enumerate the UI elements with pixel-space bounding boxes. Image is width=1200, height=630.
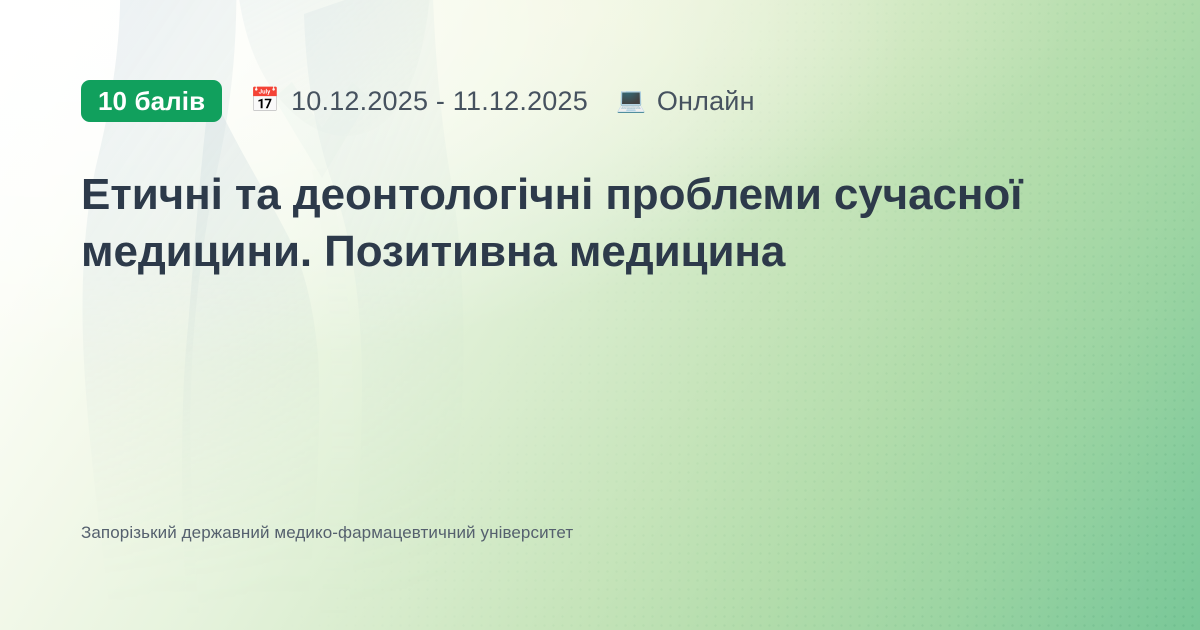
card-content: 10 балів 📅 10.12.2025 - 11.12.2025 💻 Онл… xyxy=(0,0,1200,630)
event-title: Етичні та деонтологічні проблеми сучасно… xyxy=(81,122,1041,280)
date-range-label: 10.12.2025 - 11.12.2025 xyxy=(291,88,588,115)
meta-row: 10 балів 📅 10.12.2025 - 11.12.2025 💻 Онл… xyxy=(81,80,1120,122)
layout-spacer xyxy=(81,280,1120,522)
format: 💻 Онлайн xyxy=(616,88,755,115)
credits-badge: 10 балів xyxy=(81,80,222,122)
event-promo-card: 10 балів 📅 10.12.2025 - 11.12.2025 💻 Онл… xyxy=(0,0,1200,630)
format-label: Онлайн xyxy=(657,88,755,115)
calendar-icon: 📅 xyxy=(250,89,280,113)
laptop-icon: 💻 xyxy=(616,89,646,113)
date-range: 📅 10.12.2025 - 11.12.2025 xyxy=(250,88,588,115)
organizer-name: Запорізький державний медико-фармацевтич… xyxy=(81,522,1120,596)
